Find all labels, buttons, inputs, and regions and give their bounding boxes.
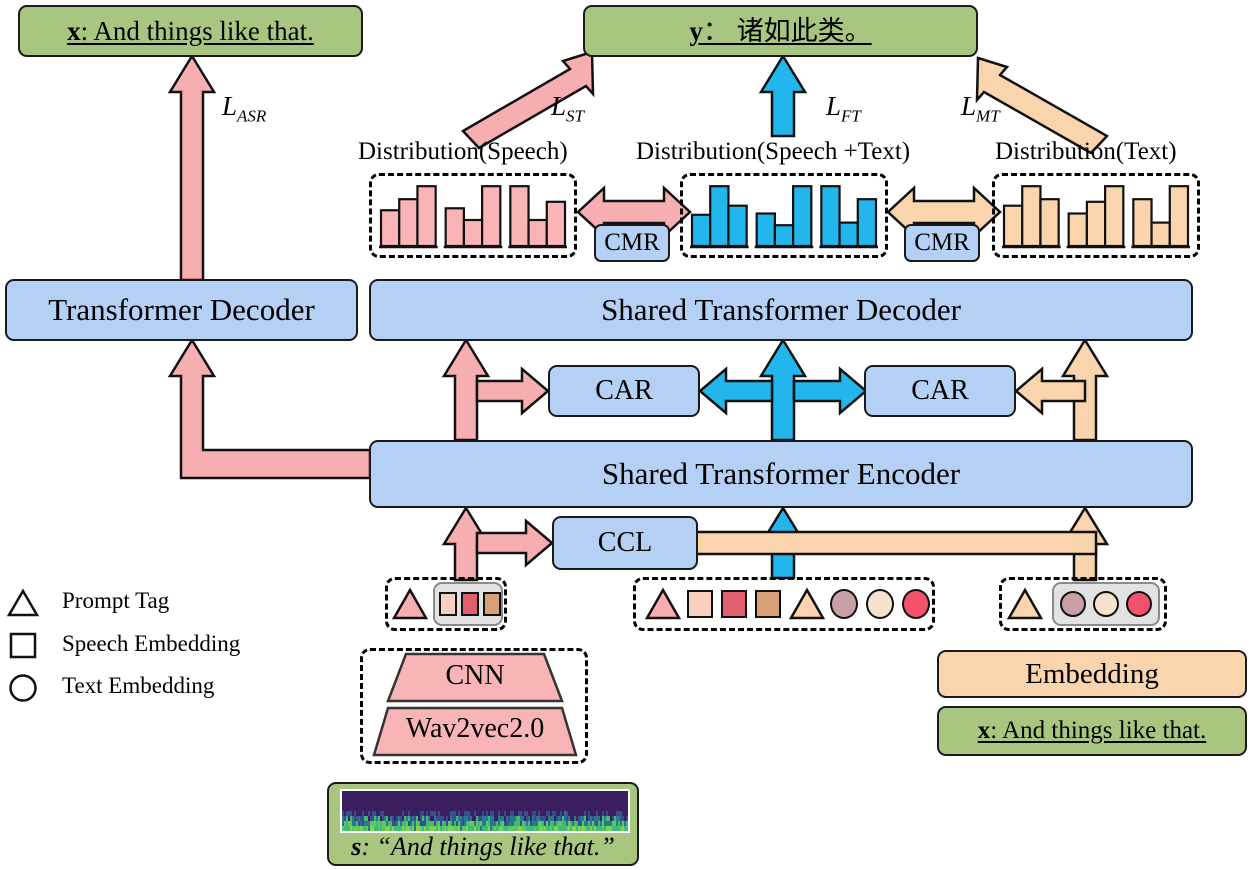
spectrogram-cell (552, 821, 554, 826)
spectrogram-cell (466, 821, 468, 826)
spectrogram-cell (490, 816, 492, 821)
loss-asr-label: LASR (222, 91, 266, 126)
spectrogram-cell (576, 816, 578, 821)
spectrogram-cell (496, 811, 498, 816)
spectrogram-cell (352, 821, 354, 826)
spectrogram-cell (348, 811, 350, 816)
spectrogram-cell (612, 821, 614, 826)
spectrogram-cell (498, 816, 500, 821)
spectrogram-cell (488, 811, 490, 816)
spectrogram-cell (504, 811, 506, 816)
spectrogram-image (340, 789, 630, 833)
token-circle (830, 589, 858, 619)
spectrogram-cell (418, 821, 420, 826)
embedding-block[interactable]: Embedding (937, 650, 1247, 698)
spectrogram-cell (626, 811, 628, 816)
spectrogram-cell (382, 816, 384, 821)
histogram-bar (775, 225, 793, 246)
spectrogram-cell (534, 816, 536, 821)
spectrogram-cell (486, 826, 488, 831)
spectrogram-cell (356, 816, 358, 821)
spectrogram-cell (544, 821, 546, 826)
histogram-bar (840, 223, 858, 246)
spectrogram-cell (362, 826, 364, 831)
text-input-box: x: And things like that. (937, 706, 1247, 756)
spectrogram-cell (472, 821, 474, 826)
spectrogram-cell (516, 821, 518, 826)
spectrogram-cell (584, 826, 586, 831)
spectrogram-cell (620, 816, 622, 821)
spectrogram-cell (520, 826, 522, 831)
legend-label-prompt-tag: Prompt Tag (62, 588, 169, 614)
spectrogram-cell (466, 816, 468, 821)
spectrogram-cell (474, 816, 476, 821)
spectrogram-cell (346, 811, 348, 816)
spectrogram-cell (620, 811, 622, 816)
spectrogram-cell (416, 826, 418, 831)
spectrogram-cell (394, 821, 396, 826)
spectrogram-cell (462, 821, 464, 826)
spectrogram-cell (512, 826, 514, 831)
spectrogram-cell (524, 826, 526, 831)
histogram-bar (464, 220, 482, 246)
spectrogram-cell (458, 821, 460, 826)
spectrogram-cell (414, 811, 416, 816)
spectrogram-cell (362, 821, 364, 826)
spectrogram-cell (480, 821, 482, 826)
spectrogram-cell (542, 826, 544, 831)
spectrogram-cell (404, 826, 406, 831)
spectrogram-cell (506, 826, 508, 831)
spectrogram-cell (388, 821, 390, 826)
spectrogram-cell (422, 821, 424, 826)
spectrogram-cell (402, 811, 404, 816)
spectrogram-cell (464, 811, 466, 816)
spectrogram-cell (380, 821, 382, 826)
spectrogram-cell (440, 826, 442, 831)
spectrogram-cell (396, 811, 398, 816)
spectrogram-cell (348, 816, 350, 821)
spectrogram-cell (624, 816, 626, 821)
spectrogram-cell (580, 811, 582, 816)
spectrogram-cell (500, 821, 502, 826)
spectrogram-cell (412, 821, 414, 826)
spectrogram-cell (476, 826, 478, 831)
spectrogram-cell (386, 821, 388, 826)
spectrogram-cell (358, 826, 360, 831)
spectrogram-cell (422, 816, 424, 821)
wav2vec-label: Wav2vec2.0 (370, 713, 580, 745)
spectrogram-cell (406, 816, 408, 821)
spectrogram-cell (442, 826, 444, 831)
spectrogram-cell (556, 821, 558, 826)
spectrogram-cell (518, 826, 520, 831)
spectrogram-cell (346, 821, 348, 826)
token-square (461, 592, 479, 616)
spectrogram-cell (514, 826, 516, 831)
spectrogram-cell (360, 811, 362, 816)
spectrogram-cell (378, 811, 380, 816)
spectrogram-cell (518, 816, 520, 821)
spectrogram-cell (408, 821, 410, 826)
spectrogram-cell (552, 811, 554, 816)
spectrogram-cell (372, 821, 374, 826)
spectrogram-cell (616, 826, 618, 831)
spectrogram-cell (566, 816, 568, 821)
spectrogram-cell (534, 821, 536, 826)
spectrogram-cell (412, 816, 414, 821)
spectrogram-cell (528, 816, 530, 821)
legend-label-text-embedding: Text Embedding (62, 673, 214, 699)
spectrogram-cell (604, 821, 606, 826)
spectrogram-cell (536, 821, 538, 826)
histogram-bar (547, 202, 565, 246)
spectrogram-cell (342, 826, 344, 831)
translation-output-box: y： 诸如此类。 (583, 5, 978, 57)
spectrogram-cell (582, 826, 584, 831)
spectrogram-cell (612, 816, 614, 821)
spectrogram-cell (600, 816, 602, 821)
shared-transformer-encoder-block[interactable]: Shared Transformer Encoder (369, 440, 1193, 508)
spectrogram-cell (392, 816, 394, 821)
spectrogram-cell (392, 821, 394, 826)
spectrogram-cell (420, 821, 422, 826)
histogram-bar (1133, 199, 1151, 246)
spectrogram-cell (450, 816, 452, 821)
spectrogram-cell (610, 816, 612, 821)
spectrogram-cell (536, 826, 538, 831)
spectrogram-cell (556, 811, 558, 816)
spectrogram-cell (598, 826, 600, 831)
spectrogram-cell (456, 821, 458, 826)
spectrogram-cell (458, 816, 460, 821)
spectrogram-cell (386, 826, 388, 831)
spectrogram-cell (432, 811, 434, 816)
spectrogram-cell (470, 816, 472, 821)
spectrogram-cell (562, 816, 564, 821)
spectrogram-cell (522, 816, 524, 821)
spectrogram-cell (348, 826, 350, 831)
spectrogram-cell (442, 816, 444, 821)
car-right-block[interactable]: CAR (864, 365, 1016, 417)
spectrogram-cell (558, 826, 560, 831)
spectrogram-cell (572, 821, 574, 826)
spectrogram-cell (584, 816, 586, 821)
spectrogram-cell (534, 826, 536, 831)
spectrogram-cell (370, 816, 372, 821)
spectrogram-cell (390, 821, 392, 826)
spectrogram-cell (420, 811, 422, 816)
spectrogram-cell (550, 816, 552, 821)
caption-distribution-joint: Distribution(Speech +Text) (636, 138, 910, 166)
spectrogram-cell (424, 821, 426, 826)
spectrogram-cell (528, 826, 530, 831)
spectrogram-cell (610, 826, 612, 831)
spectrogram-cell (470, 821, 472, 826)
shared-transformer-decoder-block[interactable]: Shared Transformer Decoder (369, 279, 1193, 341)
spectrogram-cell (482, 816, 484, 821)
spectrogram-cell (504, 821, 506, 826)
spectrogram-cell (600, 811, 602, 816)
spectrogram-cell (356, 821, 358, 826)
spectrogram-cell (376, 826, 378, 831)
spectrogram-cell (572, 816, 574, 821)
caption-distribution-text: Distribution(Text) (995, 138, 1177, 166)
spectrogram-cell (388, 811, 390, 816)
spectrogram-cell (454, 816, 456, 821)
spectrogram-cell (350, 816, 352, 821)
spectrogram-cell (454, 811, 456, 816)
histogram-bar (399, 199, 417, 246)
speech-input-text: : “And things like that.” (361, 832, 615, 861)
spectrogram-cell (350, 826, 352, 831)
spectrogram-cell (368, 811, 370, 816)
spectrogram-cell (600, 826, 602, 831)
spectrogram-cell (562, 821, 564, 826)
spectrogram-cell (360, 826, 362, 831)
spectrogram-cell (414, 816, 416, 821)
spectrogram-cell (510, 816, 512, 821)
spectrogram-cell (416, 821, 418, 826)
spectrogram-cell (402, 816, 404, 821)
spectrogram-cell (568, 811, 570, 816)
spectrogram-cell (376, 811, 378, 816)
spectrogram-cell (558, 811, 560, 816)
spectrogram-cell (576, 821, 578, 826)
spectrogram-cell (614, 811, 616, 816)
spectrogram-cell (414, 821, 416, 826)
spectrogram-cell (426, 816, 428, 821)
cnn-label: CNN (370, 660, 580, 692)
spectrogram-cell (532, 816, 534, 821)
spectrogram-cell (582, 816, 584, 821)
transformer-decoder-block[interactable]: Transformer Decoder (5, 279, 358, 341)
spectrogram-cell (568, 826, 570, 831)
spectrogram-cell (574, 816, 576, 821)
spectrogram-cell (376, 821, 378, 826)
loss-ft-label: LFT (826, 91, 861, 126)
cmr-right-box[interactable]: CMR (904, 224, 980, 262)
histogram-bar (710, 186, 728, 246)
spectrogram-cell (342, 811, 344, 816)
spectrogram-cell (364, 821, 366, 826)
spectrogram-cell (504, 816, 506, 821)
spectrogram-cell (608, 826, 610, 831)
spectrogram-cell (606, 816, 608, 821)
spectrogram-cell (516, 811, 518, 816)
spectrogram-cell (536, 811, 538, 816)
spectrogram-cell (374, 811, 376, 816)
spectrogram-cell (424, 816, 426, 821)
spectrogram-cell (516, 816, 518, 821)
spectrogram-cell (596, 826, 598, 831)
spectrogram-cell (526, 816, 528, 821)
spectrogram-cell (452, 816, 454, 821)
histogram-svg (992, 173, 1200, 258)
spectrogram-cell (546, 826, 548, 831)
spectrogram-cell (444, 821, 446, 826)
spectrogram-cell (562, 811, 564, 816)
histogram-bar (692, 215, 710, 246)
spectrogram-cell (360, 821, 362, 826)
spectrogram-cell (342, 821, 344, 826)
spectrogram-cell (602, 816, 604, 821)
spectrogram-cell (472, 826, 474, 831)
spectrogram-cell (508, 826, 510, 831)
spectrogram-cell (344, 811, 346, 816)
spectrogram-cell (440, 821, 442, 826)
histogram-speech (369, 173, 577, 258)
spectrogram-cell (614, 826, 616, 831)
token-square (755, 590, 781, 618)
spectrogram-cell (580, 816, 582, 821)
asr-output-text: x: And things like that. (67, 17, 314, 45)
spectrogram-cell (572, 811, 574, 816)
spectrogram-cell (546, 821, 548, 826)
spectrogram-cell (502, 816, 504, 821)
spectrogram-cell (566, 811, 568, 816)
spectrogram-cell (484, 811, 486, 816)
spectrogram-cell (484, 816, 486, 821)
ccl-block[interactable]: CCL (552, 516, 698, 570)
spectrogram-cell (456, 816, 458, 821)
histogram-bar (529, 220, 547, 246)
spectrogram-cell (418, 811, 420, 816)
spectrogram-cell (616, 811, 618, 816)
arrow-pink-to-ccl (477, 521, 552, 565)
spectrogram-cell (610, 821, 612, 826)
spectrogram-cell (406, 821, 408, 826)
spectrogram-cell (456, 811, 458, 816)
spectrogram-cell (408, 826, 410, 831)
spectrogram-cell (378, 816, 380, 821)
spectrogram-cell (382, 821, 384, 826)
spectrogram-cell (602, 821, 604, 826)
arrow-ft (761, 56, 805, 136)
histogram-svg (369, 173, 577, 258)
spectrogram-cell (590, 826, 592, 831)
spectrogram-cell (428, 811, 430, 816)
spectrogram-cell (444, 826, 446, 831)
spectrogram-cell (554, 826, 556, 831)
spectrogram-cell (464, 826, 466, 831)
histogram-bar (482, 186, 500, 246)
spectrogram-cell (542, 816, 544, 821)
spectrogram-cell (592, 821, 594, 826)
spectrogram-cell (566, 821, 568, 826)
spectrogram-cell (346, 816, 348, 821)
spectrogram-cell (462, 816, 464, 821)
spectrogram-cell (438, 811, 440, 816)
spectrogram-cell (520, 811, 522, 816)
spectrogram-cell (550, 811, 552, 816)
spectrogram-cell (570, 826, 572, 831)
spectrogram-cell (502, 811, 504, 816)
spectrogram-cell (552, 826, 554, 831)
spectrogram-cell (474, 821, 476, 826)
spectrogram-cell (612, 811, 614, 816)
histogram-bar (1004, 206, 1022, 246)
spectrogram-cell (530, 826, 532, 831)
spectrogram-cell (454, 826, 456, 831)
spectrogram-cell (374, 821, 376, 826)
spectrogram-cell (608, 816, 610, 821)
spectrogram-cell (344, 821, 346, 826)
spectrogram-cell (350, 821, 352, 826)
spectrogram-cell (548, 816, 550, 821)
spectrogram-cell (546, 811, 548, 816)
spectrogram-cell (438, 821, 440, 826)
spectrogram-cell (396, 826, 398, 831)
spectrogram-cell (362, 816, 364, 821)
spectrogram-cell (462, 826, 464, 831)
spectrogram-cell (388, 816, 390, 821)
histogram-text (992, 173, 1200, 258)
spectrogram-cell (574, 811, 576, 816)
spectrogram-cell (490, 821, 492, 826)
spectrogram-cell (492, 816, 494, 821)
spectrogram-cell (550, 826, 552, 831)
car-left-block[interactable]: CAR (548, 365, 700, 417)
spectrogram-cell (618, 821, 620, 826)
spectrogram-cell (488, 816, 490, 821)
spectrogram-cell (380, 811, 382, 816)
spectrogram-cell (408, 816, 410, 821)
spectrogram-cell (354, 816, 356, 821)
spectrogram-cell (500, 816, 502, 821)
spectrogram-cell (420, 816, 422, 821)
spectrogram-cell (460, 811, 462, 816)
spectrogram-cell (424, 826, 426, 831)
spectrogram-cell (378, 826, 380, 831)
spectrogram-cell (376, 816, 378, 821)
spectrogram-cell (374, 816, 376, 821)
spectrogram-cell (384, 821, 386, 826)
translation-output-text: y： 诸如此类。 (689, 17, 871, 45)
spectrogram-cell (372, 826, 374, 831)
token-circle (1060, 591, 1086, 617)
spectrogram-cell (498, 821, 500, 826)
spectrogram-cell (534, 811, 536, 816)
spectrogram-cell (484, 826, 486, 831)
spectrogram-cell (404, 821, 406, 826)
spectrogram-cell (480, 826, 482, 831)
spectrogram-cell (622, 821, 624, 826)
spectrogram-cell (488, 826, 490, 831)
spectrogram-cell (492, 821, 494, 826)
spectrogram-cell (526, 826, 528, 831)
spectrogram-cell (466, 826, 468, 831)
cmr-left-box[interactable]: CMR (594, 224, 670, 262)
spectrogram-cell (532, 826, 534, 831)
spectrogram-cell (508, 821, 510, 826)
spectrogram-cell (586, 816, 588, 821)
spectrogram-cell (362, 811, 364, 816)
loss-st-label: LST (551, 91, 584, 126)
spectrogram-cell (434, 821, 436, 826)
spectrogram-cell (616, 821, 618, 826)
spectrogram-cell (592, 826, 594, 831)
spectrogram-cell (560, 811, 562, 816)
spectrogram-cell (480, 816, 482, 821)
spectrogram-cell (522, 826, 524, 831)
spectrogram-cell (492, 826, 494, 831)
spectrogram-cell (448, 816, 450, 821)
spectrogram-cell (416, 816, 418, 821)
spectrogram-cell (514, 816, 516, 821)
spectrogram-cell (486, 821, 488, 826)
spectrogram-cell (446, 816, 448, 821)
